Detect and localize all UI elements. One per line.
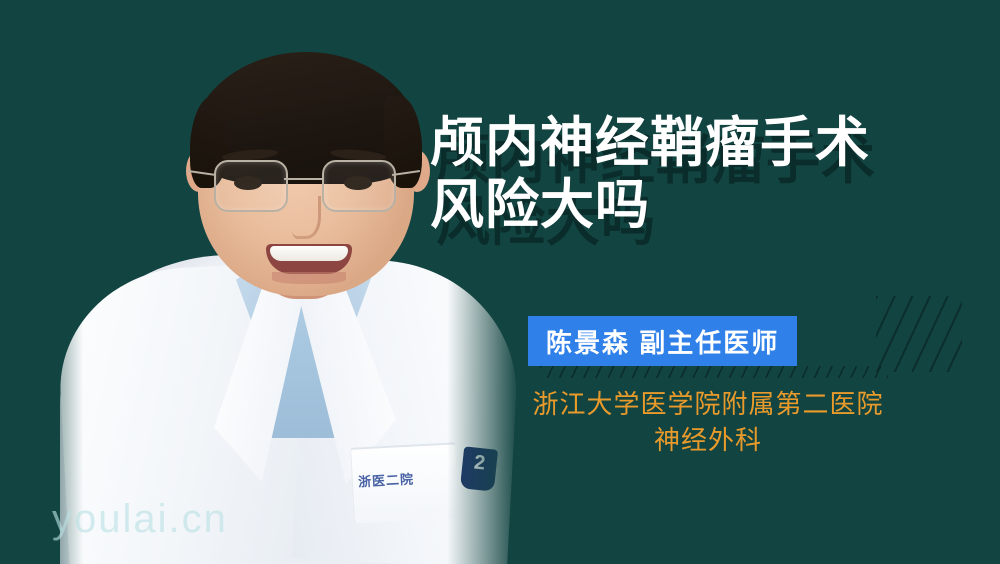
nose bbox=[292, 196, 321, 239]
eyeglasses-lens-left bbox=[214, 160, 288, 212]
lower-lip bbox=[272, 272, 346, 284]
page-title: 颅内神经鞘瘤手术 风险大吗 bbox=[430, 112, 986, 236]
thumbnail-canvas: 浙医二院 2 颅内神经鞘瘤手术 风险大吗 陈景森 副主任医师 浙江大学医学院附属… bbox=[0, 0, 1000, 564]
teeth bbox=[270, 246, 348, 261]
hospital-department: 神经外科 bbox=[430, 422, 986, 458]
coat-pocket-embroidery: 浙医二院 bbox=[358, 469, 415, 491]
smiling-mouth bbox=[266, 244, 352, 274]
doctor-portrait-photo: 浙医二院 2 bbox=[0, 0, 520, 564]
eyeglasses-bridge bbox=[284, 178, 322, 180]
diagonal-hatch-right bbox=[876, 296, 962, 372]
diagonal-hatch-under-badge bbox=[540, 366, 888, 378]
doctor-name-label: 陈景森 副主任医师 bbox=[546, 323, 779, 360]
hospital-name: 浙江大学医学院附属第二医院 bbox=[430, 386, 986, 422]
hospital-info: 浙江大学医学院附属第二医院 神经外科 bbox=[430, 386, 986, 458]
eyeglasses-lens-right bbox=[322, 160, 396, 212]
doctor-name-badge: 陈景森 副主任医师 bbox=[528, 316, 797, 366]
title-line-1: 颅内神经鞘瘤手术 bbox=[430, 112, 986, 174]
title-line-2: 风险大吗 bbox=[430, 174, 986, 236]
